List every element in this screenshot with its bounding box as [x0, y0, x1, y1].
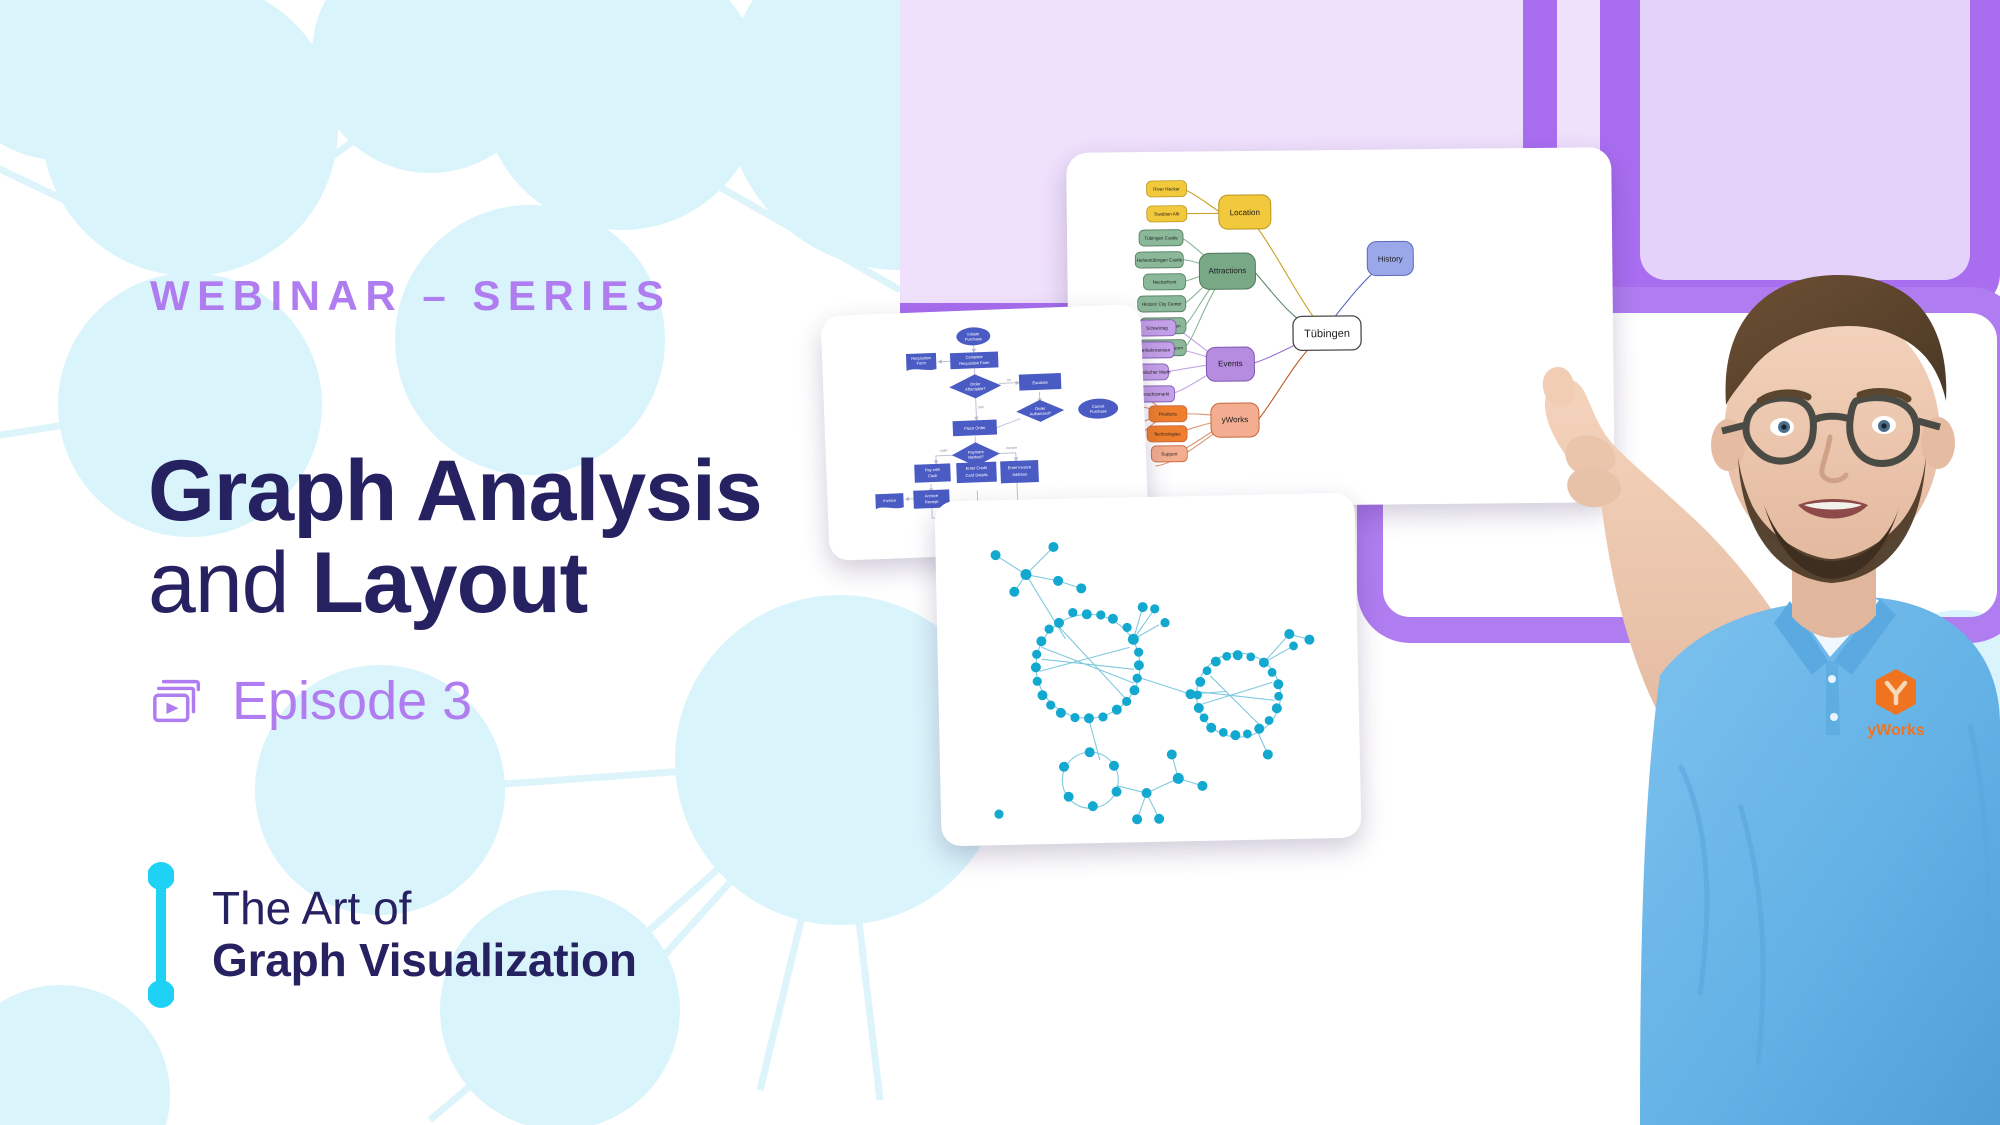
flow-node-order-affordable: Order Affordable? — [949, 373, 1002, 399]
mindmap-node-events: Events — [1206, 347, 1254, 382]
kicker-label: WEBINAR – SERIES — [150, 272, 671, 320]
mindmap-node-location: Location — [1219, 195, 1271, 230]
svg-text:Enter Invoice: Enter Invoice — [1008, 464, 1032, 470]
flow-node-place-order: Place Order — [953, 420, 998, 437]
svg-text:yes: yes — [978, 405, 984, 409]
title-line-2-bold: Layout — [311, 535, 587, 631]
svg-text:Address: Address — [1012, 471, 1027, 477]
svg-text:Purchase: Purchase — [965, 336, 983, 342]
presenter-shirt — [1640, 591, 2000, 1125]
yworks-logo-text: yWorks — [1867, 722, 1925, 739]
network-card[interactable] — [934, 493, 1361, 847]
presenter-head — [1711, 275, 1955, 583]
mindmap-node-swabian-alb: Swabian Alb — [1147, 206, 1187, 222]
svg-text:Enter Credit: Enter Credit — [966, 465, 988, 471]
svg-text:Location: Location — [1230, 208, 1260, 217]
mindmap-node-schwoertag: Schwörtag — [1138, 320, 1176, 336]
mindmap-node-root: Tübingen — [1293, 316, 1361, 351]
mindmap-node-support: Support — [1151, 446, 1187, 462]
mindmap-node-yworks: yWorks — [1211, 403, 1259, 438]
svg-text:Place Order: Place Order — [964, 425, 986, 431]
svg-text:Swabian Alb: Swabian Alb — [1154, 211, 1180, 216]
mindmap-node-historic-city-center: Historic City Center — [1138, 296, 1186, 313]
title-card-stage: WEBINAR – SERIES Graph Analysis and Layo… — [0, 0, 2000, 1125]
mindmap-node-attractions: Attractions — [1199, 253, 1255, 290]
title-line-2-light: and — [148, 535, 311, 631]
svg-text:cash: cash — [940, 448, 948, 452]
mindmap-node-technologies: Technologies — [1147, 426, 1187, 442]
svg-text:Card Details: Card Details — [966, 472, 988, 478]
media-cluster: .mmlbl { font-family:"Liberation Sans", … — [880, 0, 2000, 1125]
svg-text:invoice: invoice — [1006, 446, 1017, 450]
page-title: Graph Analysis and Layout — [148, 448, 762, 627]
svg-text:Tübingen Castle: Tübingen Castle — [1144, 235, 1178, 240]
svg-text:Schwörtag: Schwörtag — [1146, 326, 1168, 331]
brand-line-2: Graph Visualization — [212, 935, 637, 987]
svg-text:Technologies: Technologies — [1154, 431, 1182, 436]
episode-label: Episode 3 — [232, 674, 472, 728]
brand-text: The Art of Graph Visualization — [212, 883, 637, 986]
network-graph-diagram — [934, 493, 1361, 847]
flow-node-cancel-purchase: Cancel Purchase — [1078, 398, 1119, 420]
svg-text:yWorks: yWorks — [1222, 415, 1249, 424]
graph-edge-mark — [148, 860, 174, 1010]
mindmap-node-hohentuebingen-castle: Hohentübingen Castle — [1135, 252, 1183, 269]
svg-text:Cash: Cash — [928, 473, 938, 478]
flow-node-complete-requisition: Complete Requisition Form — [950, 351, 999, 369]
svg-text:Products: Products — [1159, 411, 1178, 416]
title-line-2: and Layout — [148, 540, 762, 628]
svg-text:Authorized?: Authorized? — [1030, 410, 1052, 416]
svg-text:Escalate: Escalate — [1032, 380, 1048, 386]
presenter-person: yWorks — [1360, 205, 2000, 1125]
flow-node-enter-invoice-address: Enter Invoice Address — [1000, 460, 1039, 483]
svg-text:Neckarfront: Neckarfront — [1153, 279, 1178, 284]
brand-lockup: The Art of Graph Visualization — [148, 860, 637, 1010]
mindmap-node-neckarfront: Neckarfront — [1143, 274, 1185, 290]
svg-text:River Neckar: River Neckar — [1153, 186, 1180, 191]
episode-row: Episode 3 — [150, 672, 472, 730]
mindmap-node-products: Products — [1149, 406, 1187, 422]
left-content-column: WEBINAR – SERIES Graph Analysis and Layo… — [0, 0, 900, 1125]
svg-text:Attractions: Attractions — [1208, 266, 1246, 275]
svg-text:Purchase: Purchase — [1090, 408, 1108, 414]
flow-node-requisition-form: Requisition Form — [906, 353, 937, 371]
mindmap-node-river-neckar: River Neckar — [1146, 181, 1186, 197]
flow-node-escalate: Escalate — [1019, 373, 1062, 391]
svg-text:Receipt: Receipt — [925, 499, 940, 505]
flow-node-pay-with-cash: Pay with Cash — [914, 463, 951, 482]
svg-text:no: no — [1007, 378, 1011, 382]
brand-line-1: The Art of — [212, 883, 637, 935]
svg-text:Pay with: Pay with — [925, 467, 940, 473]
svg-text:Tübingen: Tübingen — [1304, 328, 1350, 340]
title-line-1: Graph Analysis — [148, 448, 762, 536]
flow-node-start: Initiate Purchase — [956, 327, 991, 346]
playlist-video-icon — [150, 672, 208, 730]
svg-text:Events: Events — [1218, 359, 1243, 368]
svg-text:Complete: Complete — [965, 354, 983, 360]
svg-text:Hohentübingen Castle: Hohentübingen Castle — [1137, 257, 1183, 262]
svg-text:Archive: Archive — [925, 493, 939, 499]
svg-text:Method?: Method? — [968, 454, 985, 460]
svg-text:Affordable?: Affordable? — [965, 386, 986, 392]
flow-node-order-authorized: Order Authorized? — [1016, 399, 1065, 423]
svg-text:Historic City Center: Historic City Center — [1142, 301, 1182, 306]
svg-text:Support: Support — [1161, 451, 1178, 456]
flow-node-enter-credit-card: Enter Credit Card Details — [956, 462, 997, 484]
svg-text:Form: Form — [917, 360, 927, 365]
mindmap-node-tuebingen-castle: Tübingen Castle — [1139, 230, 1183, 246]
